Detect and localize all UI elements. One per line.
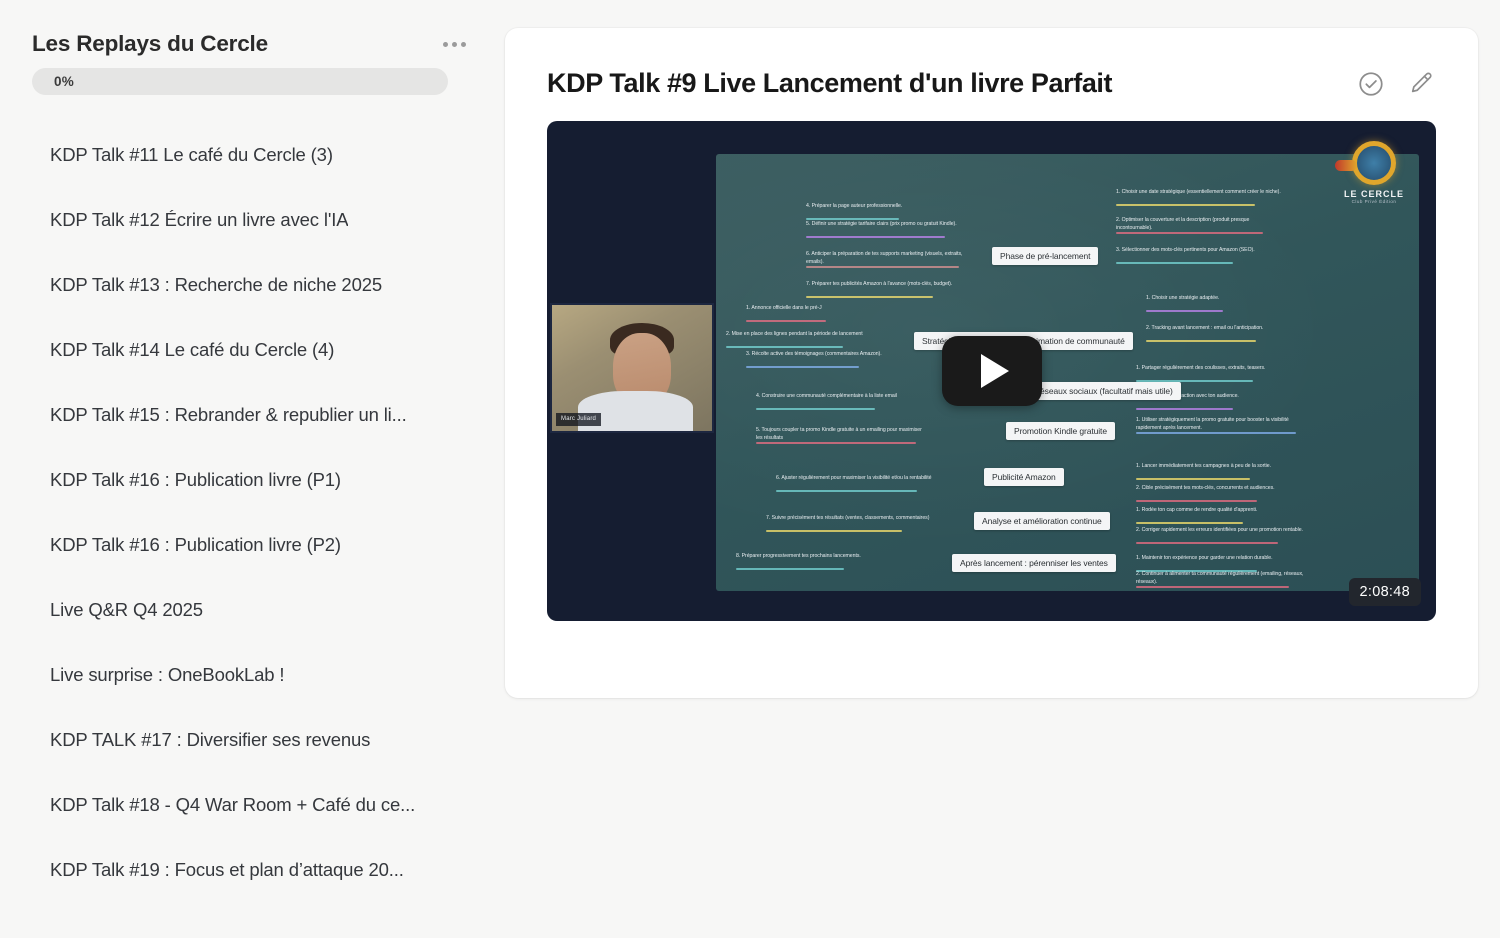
slide-node: Réseaux sociaux (facultatif mais utile) — [1026, 382, 1181, 400]
lesson-list-item[interactable]: Live Q&R Q4 2025 — [0, 577, 500, 642]
slide-branch-text: 2. Encourager l'interaction avec ton aud… — [1136, 392, 1239, 400]
lesson-header: KDP Talk #9 Live Lancement d'un livre Pa… — [547, 68, 1436, 121]
slide-node: Après lancement : pérenniser les ventes — [952, 554, 1116, 572]
lesson-list-item[interactable]: KDP Talk #19 : Focus et plan d’attaque 2… — [0, 837, 500, 902]
slide-branch-underline — [1136, 478, 1250, 480]
dots-horizontal-icon[interactable] — [439, 32, 470, 57]
slide-node: Phase de pré-lancement — [992, 247, 1098, 265]
slide-branch-text: 7. Préparer tes publicités Amazon à l'av… — [806, 280, 952, 288]
main-content: KDP Talk #9 Live Lancement d'un livre Pa… — [500, 0, 1500, 938]
lesson-list-item[interactable]: Live surprise : OneBookLab ! — [0, 642, 500, 707]
slide-branch-text: 5. Toujours coupler ta promo Kindle grat… — [756, 426, 926, 442]
slide-branch-underline — [1136, 408, 1233, 410]
pencil-icon[interactable] — [1406, 69, 1436, 99]
slide-branch-text: 2. Continuer à alimenter ta communauté r… — [1136, 570, 1306, 586]
slide-branch-underline — [1116, 232, 1263, 234]
slide-branch-text: 2. Cible précisément tes mots-clés, conc… — [1136, 484, 1275, 492]
lesson-list-item[interactable]: KDP Talk #14 Le café du Cercle (4) — [0, 317, 500, 382]
slide-branch-underline — [1136, 500, 1257, 502]
slide-branch-underline — [776, 490, 917, 492]
lesson-list-item[interactable]: KDP Talk #12 Écrire un livre avec l'IA — [0, 187, 500, 252]
lesson-item-label: KDP Talk #11 Le café du Cercle (3) — [50, 144, 333, 166]
dot — [452, 42, 457, 47]
lesson-item-label: KDP Talk #15 : Rebrander & republier un … — [50, 404, 407, 426]
slide-branch-underline — [1136, 380, 1253, 382]
course-sidebar: Les Replays du Cercle 0% KDP Talk #11 Le… — [0, 0, 500, 938]
sidebar-header: Les Replays du Cercle — [0, 30, 500, 57]
lesson-item-label: KDP Talk #16 : Publication livre (P1) — [50, 469, 341, 491]
slide-branch-underline — [766, 530, 902, 532]
slide-branch-text: 1. Annonce officielle dans le pré-J — [746, 304, 822, 312]
lesson-item-label: KDP Talk #19 : Focus et plan d’attaque 2… — [50, 859, 404, 881]
lesson-list-item[interactable]: KDP Talk #16 : Publication livre (P2) — [0, 512, 500, 577]
page-title: Les Replays du Cercle — [32, 30, 268, 57]
video-thumbnail[interactable]: 4. Préparer la page auteur professionnel… — [547, 121, 1436, 621]
slide-branch-underline — [806, 266, 959, 268]
slide-branch-text: 1. Choisir une stratégie adaptée. — [1146, 294, 1219, 302]
lesson-list-item[interactable]: KDP Talk #16 : Publication livre (P1) — [0, 447, 500, 512]
slide-branch-text: 2. Mise en place des lignes pendant la p… — [726, 330, 863, 338]
video-duration: 2:08:48 — [1349, 578, 1421, 606]
slide-branch-underline — [1136, 432, 1296, 434]
slide-branch-text: 2. Optimiser la couverture et la descrip… — [1116, 216, 1286, 232]
lesson-item-label: KDP Talk #12 Écrire un livre avec l'IA — [50, 209, 348, 231]
slide-branch-text: 8. Préparer progressivement tes prochain… — [736, 552, 861, 560]
slide-branch-underline — [1136, 570, 1257, 572]
play-button[interactable] — [942, 336, 1042, 406]
slide-branch-underline — [746, 320, 826, 322]
logo-ring-icon — [1352, 141, 1396, 185]
slide-branch-text: 1. Maintenir ton expérience pour garder … — [1136, 554, 1273, 562]
slide-branch-underline — [736, 568, 844, 570]
slide-branch-text: 6. Anticiper la préparation de tes suppo… — [806, 250, 976, 266]
slide-branch-text: 6. Ajuster régulièrement pour maximiser … — [776, 474, 931, 482]
lesson-card: KDP Talk #9 Live Lancement d'un livre Pa… — [505, 28, 1478, 698]
lesson-item-label: KDP Talk #18 - Q4 War Room + Café du ce.… — [50, 794, 415, 816]
slide-branch-text: 4. Construire une communauté complémenta… — [756, 392, 897, 400]
slide-branch-text: 5. Définir une stratégie tarifaire clair… — [806, 220, 957, 228]
lesson-list: KDP Talk #11 Le café du Cercle (3)KDP Ta… — [0, 122, 500, 902]
lesson-item-label: Live surprise : OneBookLab ! — [50, 664, 284, 686]
lesson-actions — [1356, 69, 1436, 99]
slide-branch-underline — [726, 346, 843, 348]
lesson-title: KDP Talk #9 Live Lancement d'un livre Pa… — [547, 68, 1112, 99]
slide-branch-underline — [1116, 262, 1233, 264]
presentation-slide: 4. Préparer la page auteur professionnel… — [716, 154, 1419, 591]
slide-branch-text: 7. Suivre précisément tes résultats (ven… — [766, 514, 929, 522]
lesson-item-label: KDP Talk #16 : Publication livre (P2) — [50, 534, 341, 556]
slide-branch-underline — [756, 408, 875, 410]
slide-branch-text: 1. Rodée ton cap comme de rendre qualité… — [1136, 506, 1257, 514]
slide-branch-underline — [1116, 204, 1255, 206]
slide-branch-text: 1. Partager régulièrement des coulisses,… — [1136, 364, 1265, 372]
slide-branch-text: 1. Choisir une date stratégique (essenti… — [1116, 188, 1281, 196]
lesson-item-label: Live Q&R Q4 2025 — [50, 599, 203, 621]
slide-branch-text: 3. Récolte active des témoignages (comme… — [746, 350, 882, 358]
slide-branch-underline — [1136, 586, 1289, 588]
lesson-list-item[interactable]: KDP Talk #18 - Q4 War Room + Café du ce.… — [0, 772, 500, 837]
slide-branch-underline — [1136, 542, 1278, 544]
logo-subtext: Club Privé Édition — [1352, 199, 1397, 204]
slide-branch-underline — [1146, 310, 1223, 312]
lesson-item-label: KDP TALK #17 : Diversifier ses revenus — [50, 729, 370, 751]
logo-text: LE CERCLE — [1344, 189, 1404, 199]
page-root: Les Replays du Cercle 0% KDP Talk #11 Le… — [0, 0, 1500, 938]
slide-branch-text: 1. Utiliser stratégiquement la promo gra… — [1136, 416, 1306, 432]
slide-branch-underline — [1146, 340, 1256, 342]
dot — [461, 42, 466, 47]
slide-branch-text: 1. Lancer immédiatement tes campagnes à … — [1136, 462, 1271, 470]
play-icon — [981, 354, 1009, 388]
progress-section: 0% — [0, 57, 500, 95]
slide-branch-underline — [806, 218, 899, 220]
slide-branch-text: 2. Corriger rapidement les erreurs ident… — [1136, 526, 1303, 534]
lesson-list-item[interactable]: KDP Talk #11 Le café du Cercle (3) — [0, 122, 500, 187]
check-circle-icon[interactable] — [1356, 69, 1386, 99]
progress-label: 0% — [32, 74, 74, 89]
slide-node: Promotion Kindle gratuite — [1006, 422, 1115, 440]
slide-node: Publicité Amazon — [984, 468, 1064, 486]
slide-branch-underline — [806, 296, 933, 298]
lesson-list-item[interactable]: KDP Talk #15 : Rebrander & republier un … — [0, 382, 500, 447]
presenter-name: Marc Juliard — [556, 413, 601, 426]
lesson-list-item[interactable]: KDP TALK #17 : Diversifier ses revenus — [0, 707, 500, 772]
le-cercle-logo: LE CERCLE Club Privé Édition — [1328, 135, 1420, 209]
slide-branch-text: 4. Préparer la page auteur professionnel… — [806, 202, 902, 210]
lesson-item-label: KDP Talk #14 Le café du Cercle (4) — [50, 339, 334, 361]
slide-branch-underline — [1136, 522, 1243, 524]
slide-node: Analyse et amélioration continue — [974, 512, 1110, 530]
slide-branch-underline — [746, 366, 859, 368]
slide-branch-text: 3. Sélectionner des mots-clés pertinents… — [1116, 246, 1255, 254]
progress-bar: 0% — [32, 68, 448, 95]
presenter-webcam: Marc Juliard — [550, 303, 714, 433]
slide-branch-underline — [806, 236, 945, 238]
slide-branch-text: 2. Tracking avant lancement : email ou l… — [1146, 324, 1263, 332]
dot — [443, 42, 448, 47]
slide-branch-underline — [756, 442, 916, 444]
lesson-list-item[interactable]: KDP Talk #13 : Recherche de niche 2025 — [0, 252, 500, 317]
lesson-item-label: KDP Talk #13 : Recherche de niche 2025 — [50, 274, 382, 296]
